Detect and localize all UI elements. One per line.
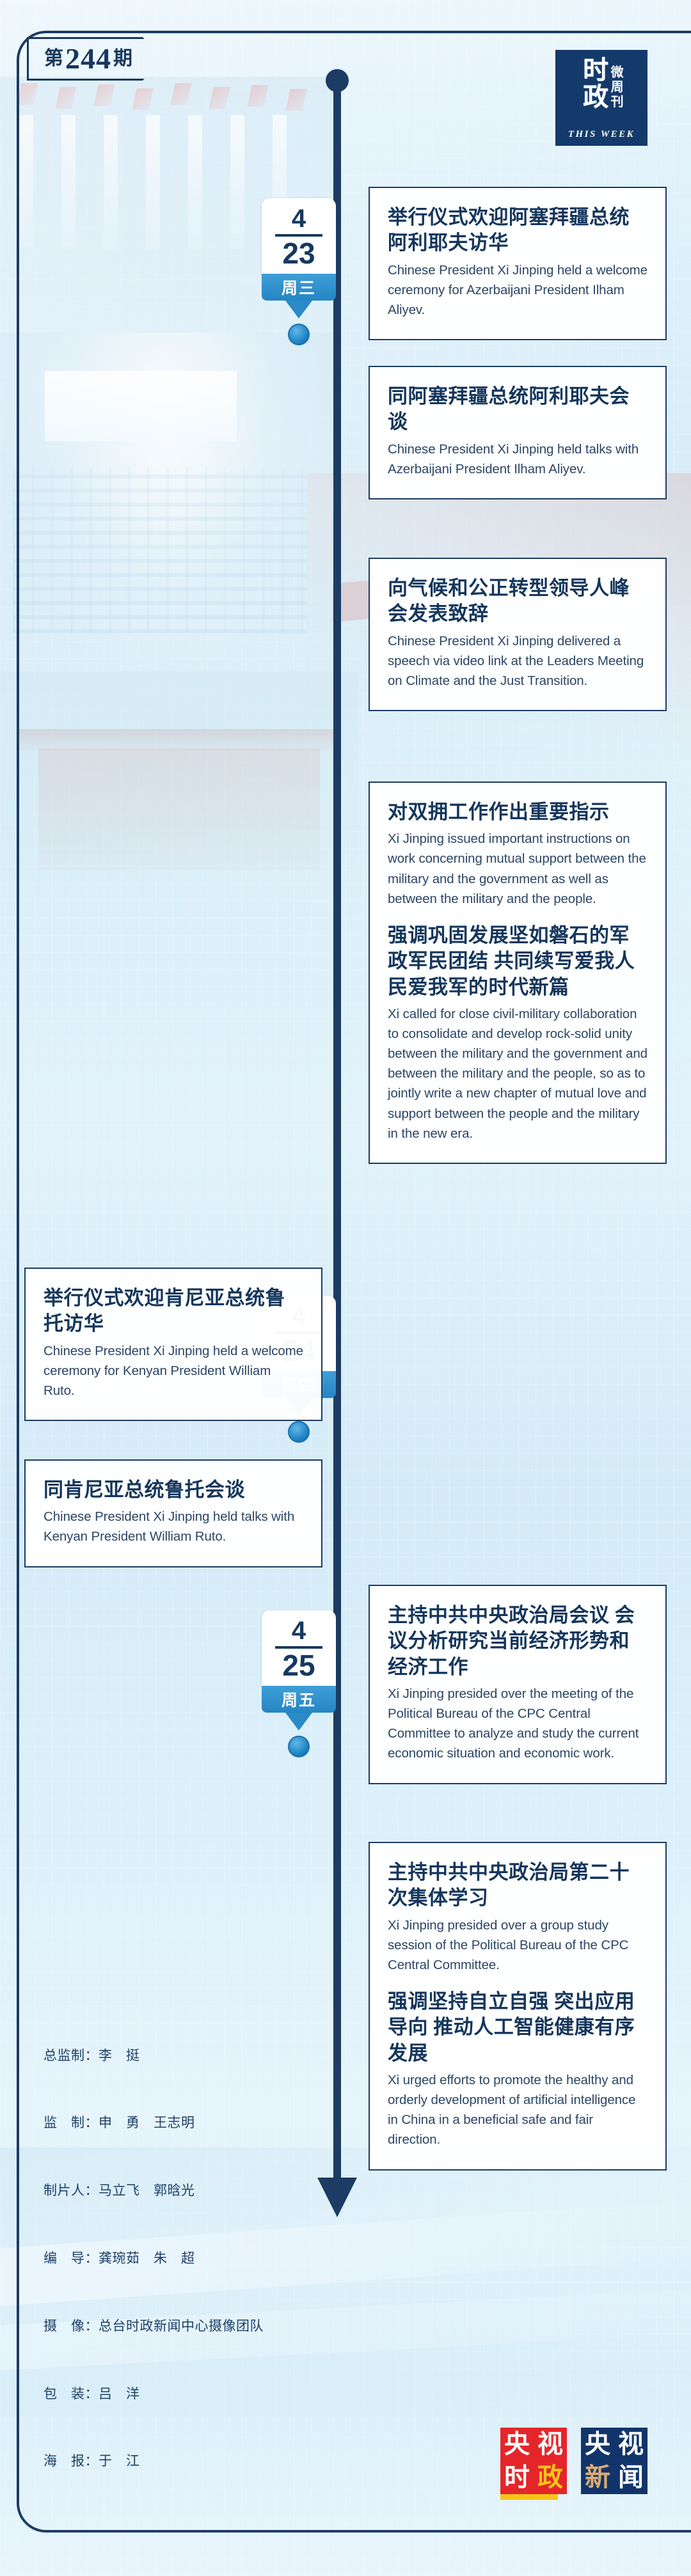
credit-line: 摄 像：总台时政新闻中心摄像团队: [44, 2315, 264, 2337]
event-title-cn: 强调坚持自立自强 突出应用导向 推动人工智能健康有序发展: [388, 1989, 647, 2066]
watermark-flags: [6, 83, 326, 160]
event-text-en: Xi Jinping presided over the meeting of …: [388, 1684, 647, 1764]
event-card[interactable]: 主持中共中央政治局会议 会议分析研究当前经济形势和经济工作 Xi Jinping…: [369, 1585, 667, 1784]
event-card[interactable]: 同阿塞拜疆总统阿利耶夫会谈 Chinese President Xi Jinpi…: [369, 366, 667, 499]
event-title-cn: 对双拥工作作出重要指示: [388, 799, 647, 825]
credits-list: 总监制：李 挺 监 制：申 勇 王志明 制片人：马立飞 郭晗光 编 导：龚琬茹 …: [44, 1999, 264, 2495]
event-title-cn: 同阿塞拜疆总统阿利耶夫会谈: [388, 384, 647, 436]
event-title-cn: 强调巩固发展坚如磐石的军政军民团结 共同续写爱我人民爱我军的时代新篇: [388, 923, 647, 1000]
event-title-cn: 主持中共中央政治局第二十次集体学习: [388, 1860, 647, 1912]
event-text-en: Xi called for close civil-military colla…: [388, 1004, 647, 1143]
date-box: 4 25: [262, 1610, 336, 1686]
masthead-title-cn: 时政: [581, 56, 606, 110]
watermark-tiananmen: [0, 671, 358, 940]
cctv-xinwen-logo: 央 视 新 闻: [581, 2428, 647, 2494]
credit-line: 编 导：龚琬茹 朱 超: [44, 2247, 264, 2270]
event-block: 举行仪式欢迎肯尼亚总统鲁托访华 Chinese President Xi Jin…: [44, 1285, 303, 1401]
logo-char: 央: [585, 2431, 610, 2457]
event-text-en: Chinese President Xi Jinping held talks …: [44, 1507, 303, 1546]
event-text-en: Chinese President Xi Jinping held a welc…: [44, 1341, 303, 1401]
event-block: 主持中共中央政治局会议 会议分析研究当前经济形势和经济工作 Xi Jinping…: [388, 1603, 647, 1764]
logo-char: 新: [585, 2465, 610, 2490]
date-weekday: 周三: [262, 274, 336, 301]
event-title-cn: 主持中共中央政治局会议 会议分析研究当前经济形势和经济工作: [388, 1603, 647, 1680]
masthead-logo: 时政 微周刊 THIS WEEK: [555, 50, 647, 146]
date-month: 4: [292, 1618, 306, 1644]
event-title-cn: 向气候和公正转型领导人峰会发表致辞: [388, 576, 647, 627]
timeline-end-arrow-icon: [317, 2178, 357, 2217]
event-text-en: Xi Jinping presided over a group study s…: [388, 1915, 647, 1975]
date-day: 25: [282, 1650, 315, 1681]
poster-frame-bottom-edge: [96, 2530, 691, 2533]
date-day: 23: [282, 238, 315, 269]
watermark-great-hall: [0, 77, 333, 563]
event-block: 主持中共中央政治局第二十次集体学习 Xi Jinping presided ov…: [388, 1860, 647, 1975]
event-block: 强调巩固发展坚如磐石的军政军民团结 共同续写爱我人民爱我军的时代新篇 Xi ca…: [388, 923, 647, 1143]
event-title-cn: 同肯尼亚总统鲁托会谈: [44, 1477, 303, 1503]
event-block: 向气候和公正转型领导人峰会发表致辞 Chinese President Xi J…: [388, 576, 647, 691]
event-text-en: Chinese President Xi Jinping held a welc…: [388, 260, 647, 320]
event-card[interactable]: 举行仪式欢迎阿塞拜疆总统阿利耶夫访华 Chinese President Xi …: [369, 187, 667, 340]
cctv-zhengzhi-logo: 央 视 时 政: [500, 2428, 567, 2494]
credit-line: 海 报：于 江: [44, 2450, 264, 2472]
issue-badge: 第 244 期: [27, 37, 162, 81]
logo-char: 视: [618, 2431, 644, 2457]
poster-frame-top-edge: [96, 31, 691, 33]
event-card[interactable]: 向气候和公正转型领导人峰会发表致辞 Chinese President Xi J…: [369, 558, 667, 711]
watermark-auditorium: [0, 333, 333, 691]
event-title-cn: 举行仪式欢迎阿塞拜疆总统阿利耶夫访华: [388, 205, 647, 256]
timeline-dot: [288, 1421, 310, 1443]
event-text-en: Chinese President Xi Jinping held talks …: [388, 439, 647, 479]
event-text-en: Xi Jinping issued important instructions…: [388, 829, 647, 909]
timeline-dot: [288, 1736, 310, 1757]
event-block: 对双拥工作作出重要指示 Xi Jinping issued important …: [388, 799, 647, 909]
logo-char: 政: [537, 2465, 563, 2490]
logo-char: 视: [537, 2431, 563, 2457]
logo-char: 央: [504, 2431, 530, 2457]
event-title-cn: 举行仪式欢迎肯尼亚总统鲁托访华: [44, 1285, 303, 1337]
masthead-title-en: THIS WEEK: [555, 129, 647, 140]
date-marker-0425: 4 25 周五: [262, 1610, 336, 1713]
event-text-en: Chinese President Xi Jinping delivered a…: [388, 631, 647, 691]
date-weekday: 周五: [262, 1686, 336, 1713]
logo-char: 闻: [618, 2465, 644, 2490]
issue-number: 244: [65, 44, 111, 74]
footer-logos: 央 视 时 政 央 视 新 闻: [500, 2428, 647, 2494]
timeline-spine: [333, 75, 341, 2183]
masthead-subtitle-cn: 微周刊: [608, 65, 622, 109]
event-card[interactable]: 同肯尼亚总统鲁托会谈 Chinese President Xi Jinping …: [24, 1459, 322, 1567]
event-block: 同阿塞拜疆总统阿利耶夫会谈 Chinese President Xi Jinpi…: [388, 384, 647, 479]
issue-prefix: 第: [44, 49, 63, 68]
credit-line: 监 制：申 勇 王志明: [44, 2112, 264, 2134]
date-marker-0423: 4 23 周三: [262, 198, 336, 301]
event-block: 强调坚持自立自强 突出应用导向 推动人工智能健康有序发展 Xi urged ef…: [388, 1989, 647, 2150]
timeline-dot: [288, 324, 310, 345]
event-text-en: Xi urged efforts to promote the healthy …: [388, 2070, 647, 2150]
event-block: 举行仪式欢迎阿塞拜疆总统阿利耶夫访华 Chinese President Xi …: [388, 205, 647, 320]
credit-line: 总监制：李 挺: [44, 2045, 264, 2067]
logo-char: 时: [504, 2465, 530, 2490]
credit-line: 制片人：马立飞 郭晗光: [44, 2179, 264, 2202]
date-month: 4: [292, 206, 306, 232]
event-card[interactable]: 举行仪式欢迎肯尼亚总统鲁托访华 Chinese President Xi Jin…: [24, 1268, 322, 1421]
event-card[interactable]: 对双拥工作作出重要指示 Xi Jinping issued important …: [369, 781, 667, 1164]
date-box: 4 23: [262, 198, 336, 274]
event-card[interactable]: 主持中共中央政治局第二十次集体学习 Xi Jinping presided ov…: [369, 1842, 667, 2171]
credit-line: 包 装：吕 洋: [44, 2383, 264, 2405]
event-block: 同肯尼亚总统鲁托会谈 Chinese President Xi Jinping …: [44, 1477, 303, 1547]
issue-suffix: 期: [113, 49, 132, 68]
